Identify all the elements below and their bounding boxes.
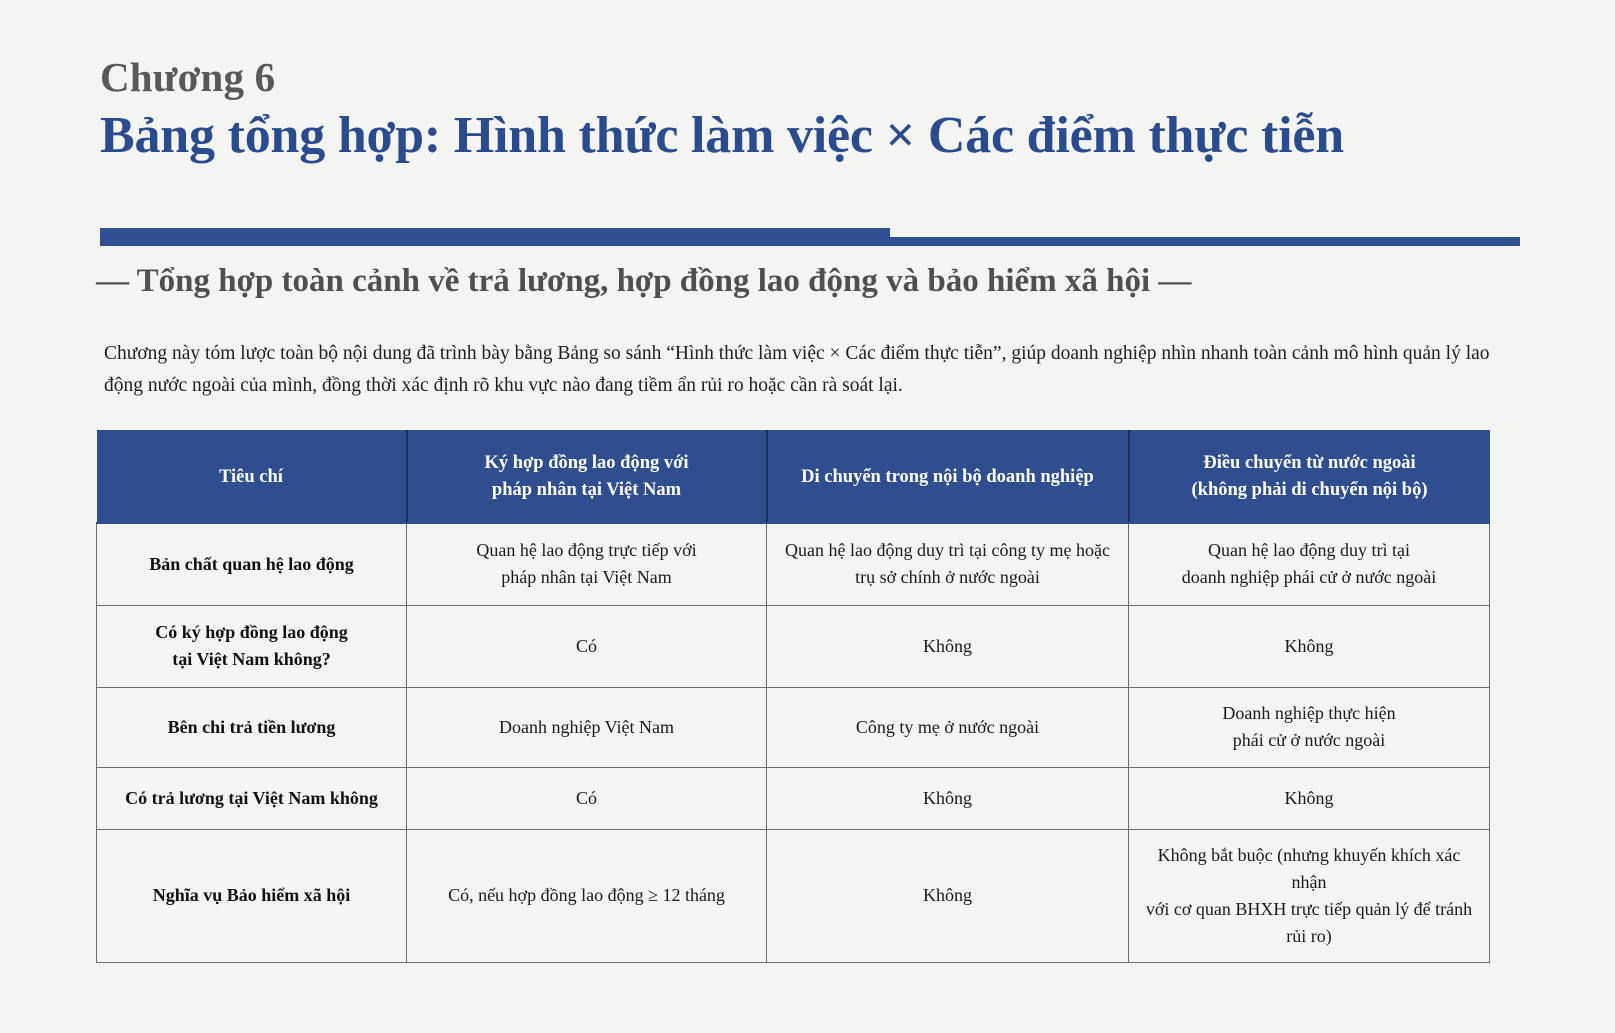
row-criterion-line1: Có ký hợp đồng lao động: [111, 619, 392, 646]
row-cell-overseas-secondment-line2: với cơ quan BHXH trực tiếp quản lý để tr…: [1143, 896, 1475, 923]
row-cell-intra-company-transfer-line1: Quan hệ lao động duy trì tại công ty mẹ …: [781, 537, 1114, 564]
row-cell-overseas-secondment-line2: phái cử ở nước ngoài: [1143, 727, 1475, 754]
table-header-row: Tiêu chí Ký hợp đồng lao động với pháp n…: [97, 431, 1490, 523]
row-cell-overseas-secondment-line1: Không: [1143, 785, 1475, 812]
row-cell-intra-company-transfer-line1: Không: [781, 785, 1114, 812]
row-cell-overseas-secondment: Quan hệ lao động duy trì tại doanh nghiệ…: [1129, 523, 1490, 605]
row-cell-intra-company-transfer-line2: trụ sở chính ở nước ngoài: [781, 564, 1114, 591]
intro-paragraph: Chương này tóm lược toàn bộ nội dung đã …: [104, 338, 1516, 401]
row-cell-intra-company-transfer-line1: Không: [781, 882, 1114, 909]
table-row: Có ký hợp đồng lao động tại Việt Nam khô…: [97, 605, 1490, 687]
comparison-table-wrapper: Tiêu chí Ký hợp đồng lao động với pháp n…: [96, 430, 1489, 963]
row-cell-overseas-secondment-line2: doanh nghiệp phái cử ở nước ngoài: [1143, 564, 1475, 591]
row-cell-overseas-secondment-line1: Không bắt buộc (nhưng khuyến khích xác n…: [1143, 842, 1475, 896]
table-row: Bên chi trả tiền lương Doanh nghiệp Việt…: [97, 687, 1490, 767]
row-criterion-line1: Bản chất quan hệ lao động: [111, 551, 392, 578]
column-header-intra-company-transfer-line1: Di chuyển trong nội bộ doanh nghiệp: [782, 464, 1114, 491]
row-cell-intra-company-transfer: Không: [767, 767, 1129, 829]
column-header-intra-company-transfer: Di chuyển trong nội bộ doanh nghiệp: [767, 431, 1129, 523]
slide-page: Chương 6 Bảng tổng hợp: Hình thức làm vi…: [0, 0, 1615, 1033]
row-cell-intra-company-transfer: Công ty mẹ ở nước ngoài: [767, 687, 1129, 767]
row-cell-local-contract: Có: [407, 767, 767, 829]
row-cell-local-contract-line1: Có: [421, 633, 752, 660]
row-cell-local-contract: Có: [407, 605, 767, 687]
column-header-overseas-secondment-line2: (không phải di chuyển nội bộ): [1144, 477, 1476, 504]
row-criterion-cell: Có ký hợp đồng lao động tại Việt Nam khô…: [97, 605, 407, 687]
row-cell-overseas-secondment: Không: [1129, 605, 1490, 687]
row-cell-overseas-secondment-line3: rủi ro): [1143, 923, 1475, 950]
row-criterion-cell: Bản chất quan hệ lao động: [97, 523, 407, 605]
table-row: Nghĩa vụ Bảo hiểm xã hội Có, nếu hợp đồn…: [97, 829, 1490, 962]
column-header-overseas-secondment: Điều chuyển từ nước ngoài (không phải di…: [1129, 431, 1490, 523]
column-header-overseas-secondment-line1: Điều chuyển từ nước ngoài: [1144, 450, 1476, 477]
rule-thick-segment: [100, 228, 890, 246]
column-header-criterion-line1: Tiêu chí: [111, 464, 392, 491]
row-cell-intra-company-transfer: Không: [767, 829, 1129, 962]
row-cell-local-contract: Quan hệ lao động trực tiếp với pháp nhân…: [407, 523, 767, 605]
column-header-criterion: Tiêu chí: [97, 431, 407, 523]
row-cell-overseas-secondment: Không bắt buộc (nhưng khuyến khích xác n…: [1129, 829, 1490, 962]
row-cell-local-contract-line1: Có: [421, 785, 752, 812]
row-criterion-line1: Có trả lương tại Việt Nam không: [111, 785, 392, 812]
column-header-local-contract: Ký hợp đồng lao động với pháp nhân tại V…: [407, 431, 767, 523]
column-header-local-contract-line1: Ký hợp đồng lao động với: [422, 450, 752, 477]
row-cell-local-contract-line1: Quan hệ lao động trực tiếp với: [421, 537, 752, 564]
header-zone: Chương 6 Bảng tổng hợp: Hình thức làm vi…: [100, 56, 1520, 165]
table-row: Có trả lương tại Việt Nam không Có Không: [97, 767, 1490, 829]
row-criterion-cell: Bên chi trả tiền lương: [97, 687, 407, 767]
row-cell-local-contract-line2: pháp nhân tại Việt Nam: [421, 564, 752, 591]
row-cell-intra-company-transfer: Quan hệ lao động duy trì tại công ty mẹ …: [767, 523, 1129, 605]
row-cell-overseas-secondment-line1: Quan hệ lao động duy trì tại: [1143, 537, 1475, 564]
row-cell-local-contract: Doanh nghiệp Việt Nam: [407, 687, 767, 767]
row-criterion-cell: Có trả lương tại Việt Nam không: [97, 767, 407, 829]
row-cell-local-contract: Có, nếu hợp đồng lao động ≥ 12 tháng: [407, 829, 767, 962]
page-title: Bảng tổng hợp: Hình thức làm việc × Các …: [100, 107, 1520, 165]
row-cell-overseas-secondment-line1: Không: [1143, 633, 1475, 660]
row-cell-overseas-secondment: Doanh nghiệp thực hiện phái cử ở nước ng…: [1129, 687, 1490, 767]
row-criterion-line2: tại Việt Nam không?: [111, 646, 392, 673]
comparison-table: Tiêu chí Ký hợp đồng lao động với pháp n…: [96, 430, 1490, 963]
row-criterion-line1: Nghĩa vụ Bảo hiểm xã hội: [111, 882, 392, 909]
row-cell-intra-company-transfer-line1: Công ty mẹ ở nước ngoài: [781, 714, 1114, 741]
row-cell-local-contract-line1: Có, nếu hợp đồng lao động ≥ 12 tháng: [421, 882, 752, 909]
row-cell-local-contract-line1: Doanh nghiệp Việt Nam: [421, 714, 752, 741]
row-criterion-cell: Nghĩa vụ Bảo hiểm xã hội: [97, 829, 407, 962]
table-header: Tiêu chí Ký hợp đồng lao động với pháp n…: [97, 431, 1490, 523]
row-cell-intra-company-transfer-line1: Không: [781, 633, 1114, 660]
table-body: Bản chất quan hệ lao động Quan hệ lao độ…: [97, 523, 1490, 962]
title-underline-rule: [100, 226, 1520, 248]
row-cell-intra-company-transfer: Không: [767, 605, 1129, 687]
row-cell-overseas-secondment-line1: Doanh nghiệp thực hiện: [1143, 700, 1475, 727]
row-cell-overseas-secondment: Không: [1129, 767, 1490, 829]
chapter-label: Chương 6: [100, 56, 1520, 99]
column-header-local-contract-line2: pháp nhân tại Việt Nam: [422, 477, 752, 504]
table-row: Bản chất quan hệ lao động Quan hệ lao độ…: [97, 523, 1490, 605]
page-subtitle: — Tổng hợp toàn cảnh về trả lương, hợp đ…: [96, 262, 1526, 302]
row-criterion-line1: Bên chi trả tiền lương: [111, 714, 392, 741]
